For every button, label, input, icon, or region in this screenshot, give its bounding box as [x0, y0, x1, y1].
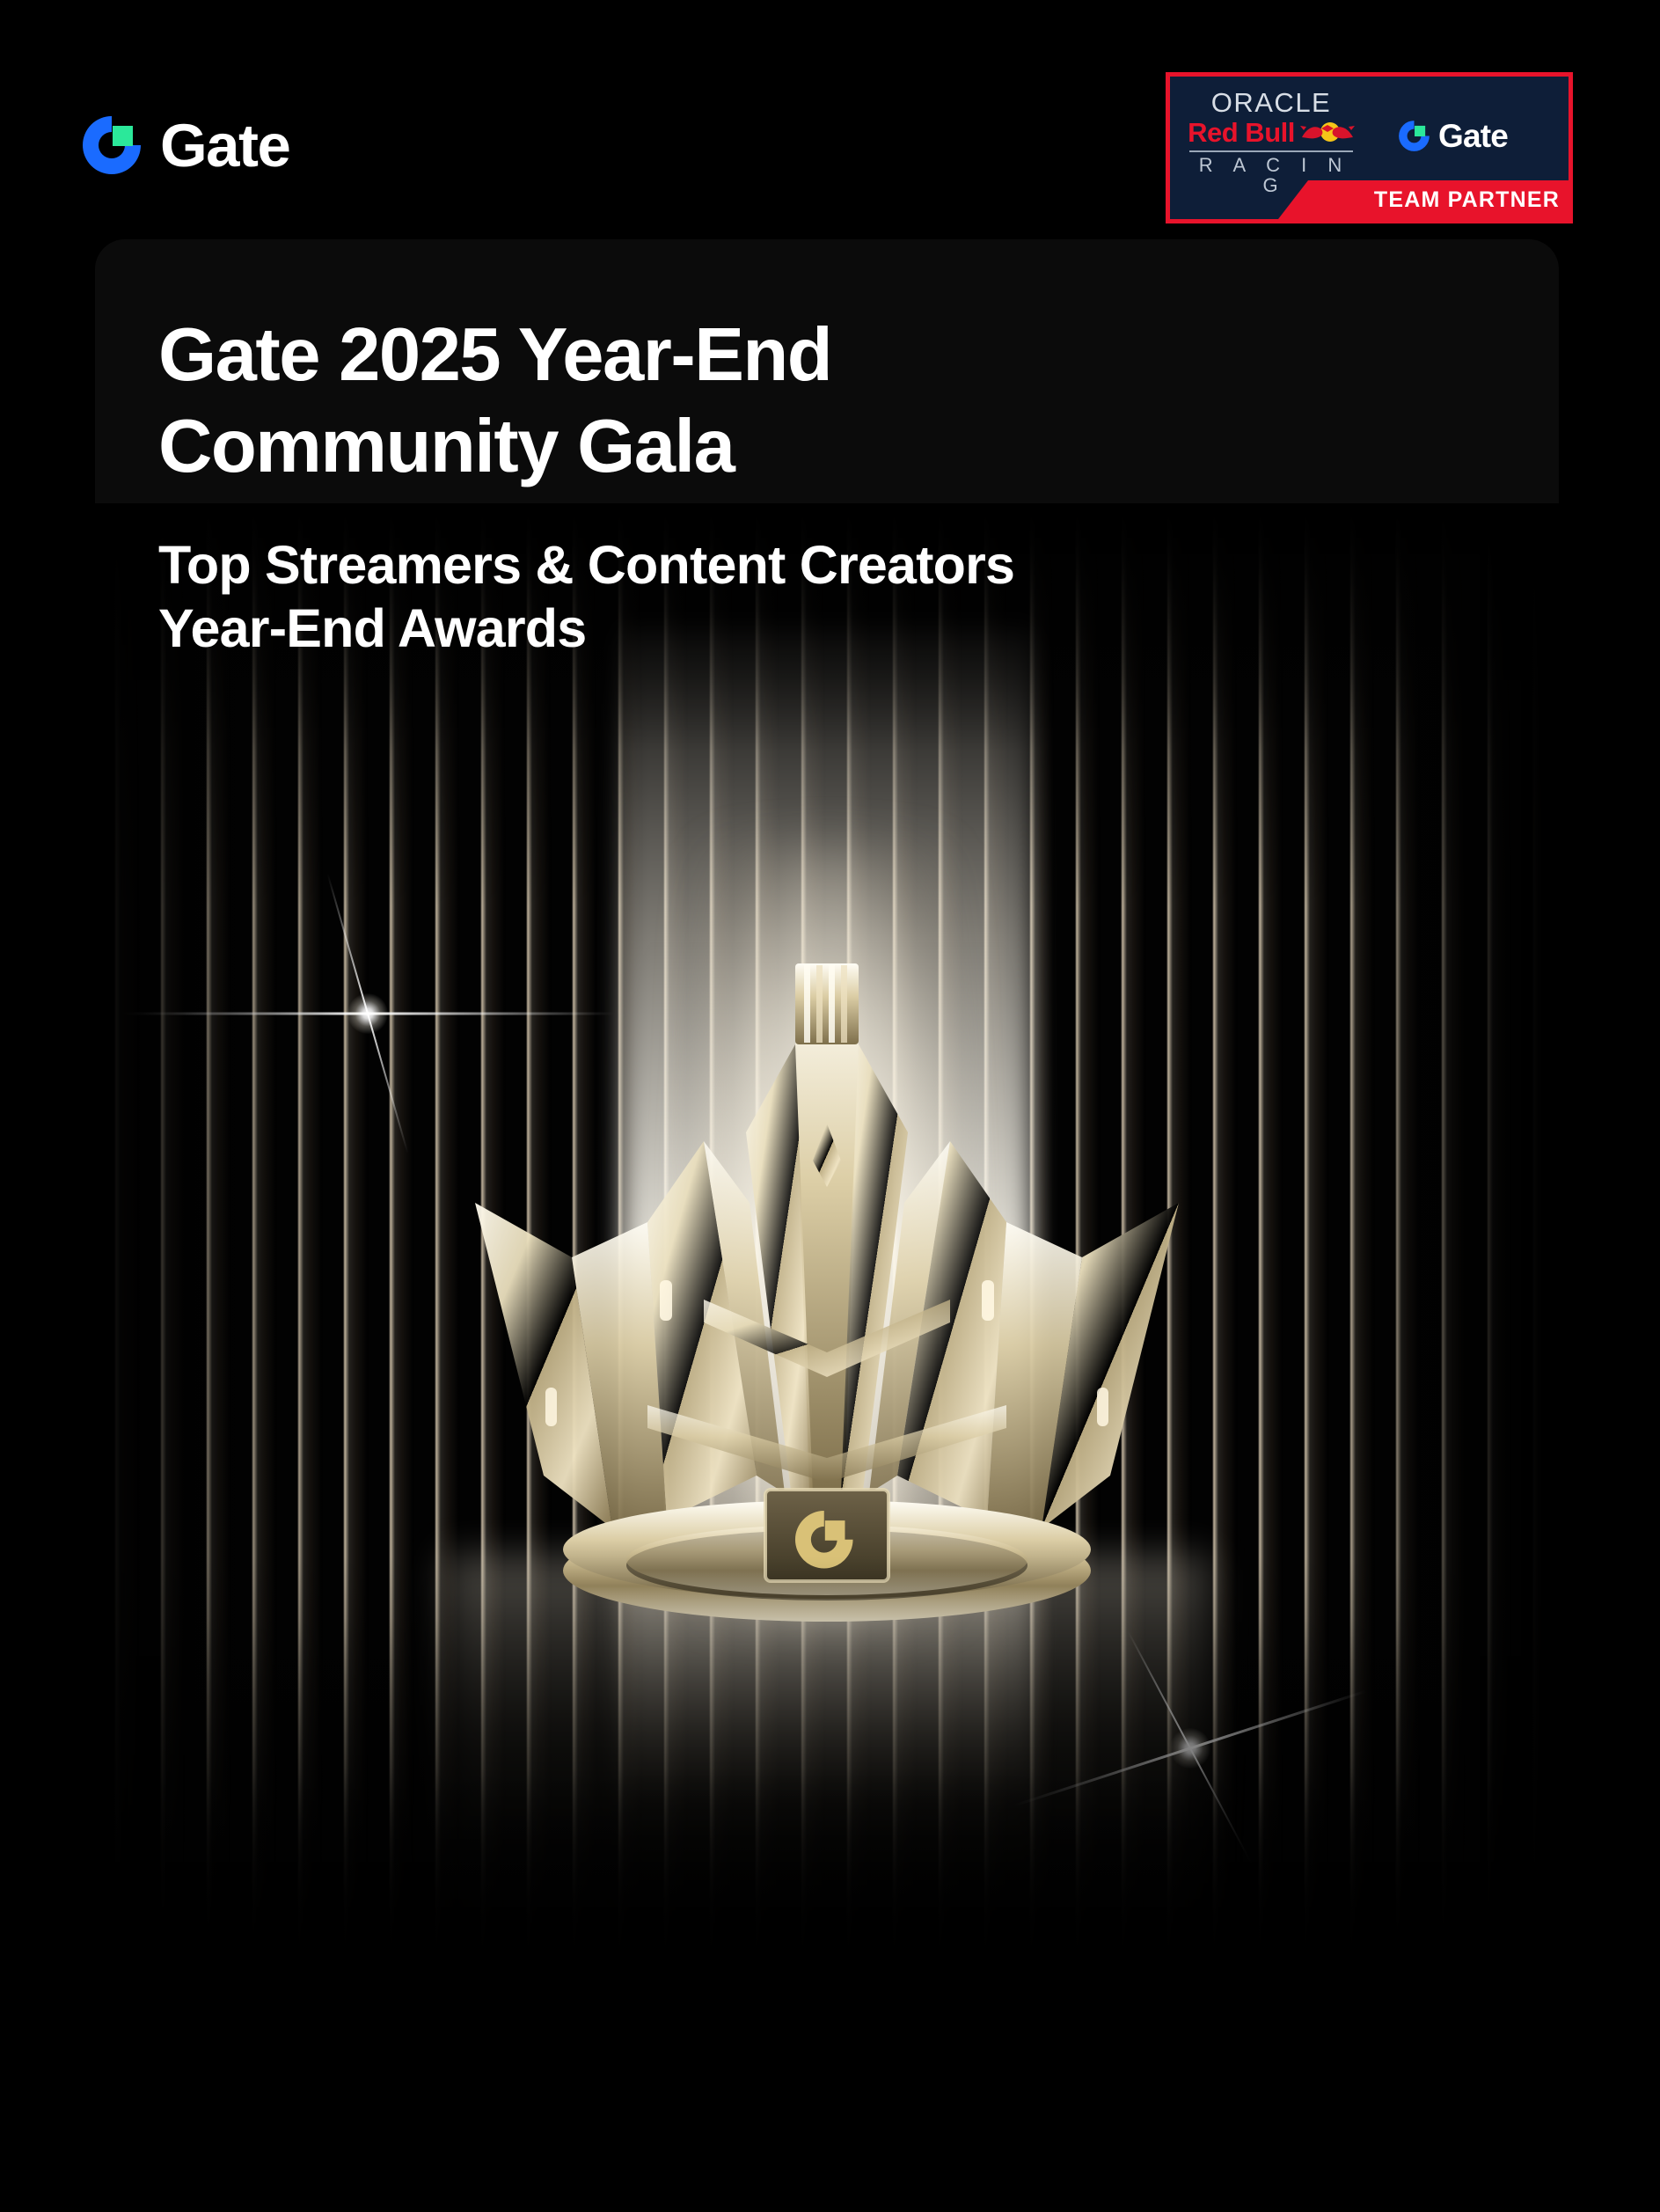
oracle-wordmark: ORACLE — [1188, 89, 1355, 118]
brand-logo[interactable]: Gate — [79, 113, 289, 178]
poster-page: Gate ORACLE Red Bull — [0, 0, 1660, 2212]
header: Gate ORACLE Red Bull — [0, 0, 1660, 239]
brand-wordmark: Gate — [160, 115, 289, 176]
hero-image — [95, 503, 1559, 2052]
page-title: Gate 2025 Year-End Community Gala — [158, 310, 1152, 492]
team-partner-ribbon: TEAM PARTNER — [1278, 180, 1569, 219]
gate-logo-icon — [1397, 119, 1431, 153]
crown-trophy — [440, 912, 1214, 1704]
badge-gate-logo: Gate — [1397, 119, 1508, 153]
red-bull-wordmark: Red Bull — [1188, 119, 1295, 148]
red-bull-row: Red Bull — [1188, 119, 1355, 148]
announcement-card: Gate 2025 Year-End Community Gala Top St… — [95, 239, 1559, 2052]
oracle-red-bull-racing-partner-badge[interactable]: ORACLE Red Bull R — [1166, 72, 1573, 223]
badge-gate-wordmark: Gate — [1438, 120, 1508, 152]
red-bull-racing-lockup: ORACLE Red Bull R — [1188, 89, 1355, 195]
gate-logo-icon — [79, 113, 144, 178]
red-bull-bulls-icon — [1300, 120, 1355, 146]
team-partner-label: TEAM PARTNER — [1374, 189, 1560, 211]
badge-divider — [1189, 150, 1353, 152]
page-subtitle: Top Streamers & Content Creators Year-En… — [158, 534, 1117, 661]
card-text-block: Gate 2025 Year-End Community Gala Top St… — [95, 239, 1559, 661]
